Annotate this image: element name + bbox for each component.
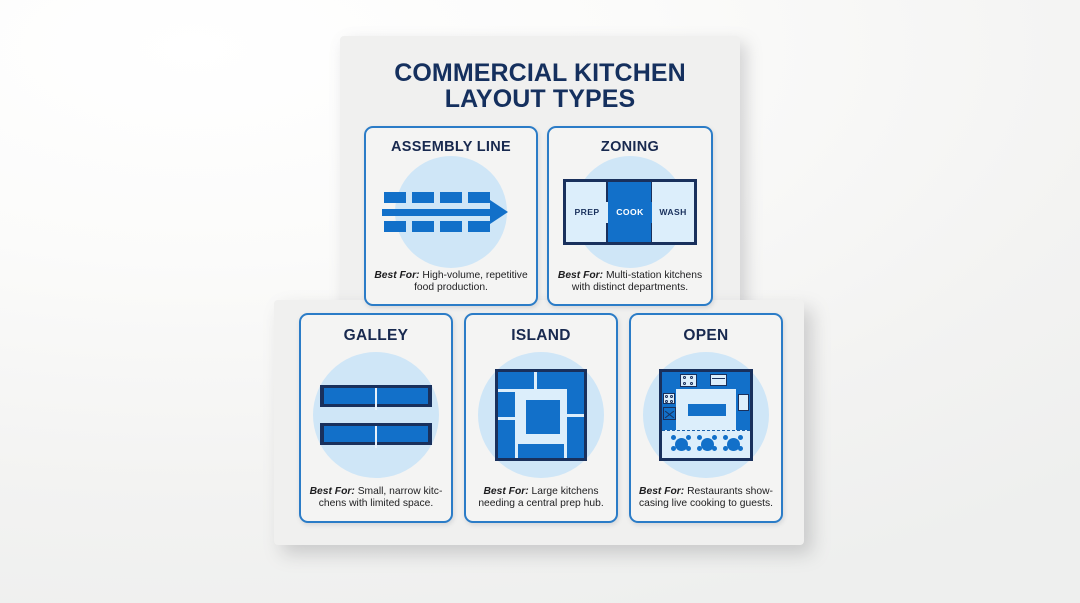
station-block [412, 192, 434, 203]
caption-assembly-line: Best For: High-volume, repetitive food p… [366, 270, 536, 295]
counter-segment [518, 444, 564, 458]
chair-dot [738, 446, 743, 451]
prep-dot [665, 400, 668, 403]
counter-segment [498, 392, 515, 417]
zone-wash: WASH [652, 182, 694, 242]
chair-dot [712, 446, 717, 451]
prep-dot [670, 400, 673, 403]
chair-dot [671, 446, 676, 451]
arrow-shaft [382, 209, 494, 216]
open-kitchen-icon [659, 369, 753, 461]
card-assembly-line[interactable]: ASSEMBLY LINE Best For: High-volume, rep… [364, 126, 538, 306]
zone-cook: COOK [608, 182, 652, 242]
zone-label-cook: COOK [616, 207, 643, 217]
card-title-open: OPEN [683, 327, 728, 345]
oven-rack [712, 376, 725, 379]
counter-bar [320, 423, 432, 445]
station-block [384, 221, 406, 232]
burner-dot [683, 382, 686, 385]
best-for-label: Best For: [558, 270, 603, 281]
zone-prep: PREP [566, 182, 608, 242]
station-block [440, 221, 462, 232]
zoning-icon: PREP COOK WASH [563, 179, 697, 245]
counter-segment [567, 372, 584, 414]
card-art-assembly-line [366, 155, 536, 270]
chair-dot [686, 435, 691, 440]
card-art-island [466, 345, 616, 486]
infographic-stage: COMMERCIAL KITCHEN LAYOUT TYPES ASSEMBLY… [0, 0, 1080, 603]
counter-bar [320, 385, 432, 407]
caption-text: High-volume, repetitive food production. [414, 270, 528, 294]
zone-label-wash: WASH [659, 207, 686, 217]
station-block [440, 192, 462, 203]
best-for-label: Best For: [310, 486, 355, 497]
chair-dot [738, 435, 743, 440]
burner-dot [683, 376, 686, 379]
arrow-head-icon [490, 200, 508, 224]
card-zoning[interactable]: ZONING PREP COOK WASH Best For: Multi-st… [547, 126, 713, 306]
burner-dot [690, 376, 693, 379]
card-title-zoning: ZONING [601, 139, 659, 155]
counter-segment [498, 372, 534, 389]
chair-dot [671, 435, 676, 440]
chair-dot [723, 446, 728, 451]
fridge-icon [738, 394, 749, 411]
page-title: COMMERCIAL KITCHEN LAYOUT TYPES [340, 60, 740, 112]
sink-icon [663, 407, 676, 420]
chair-dot [686, 446, 691, 451]
station-block [384, 192, 406, 203]
title-line-1: COMMERCIAL KITCHEN [394, 59, 686, 87]
best-for-label: Best For: [639, 486, 684, 497]
chair-dot [697, 435, 702, 440]
island-icon [495, 369, 587, 461]
best-for-label: Best For: [374, 270, 419, 281]
chair-dot [697, 446, 702, 451]
burner-dot [690, 382, 693, 385]
card-title-island: ISLAND [511, 327, 571, 345]
card-title-assembly-line: ASSEMBLY LINE [391, 139, 511, 155]
station-block [412, 221, 434, 232]
prep-dot [670, 395, 673, 398]
zone-label-prep: PREP [574, 207, 599, 217]
card-art-zoning: PREP COOK WASH [549, 155, 711, 270]
card-open[interactable]: OPEN [629, 313, 783, 523]
caption-zoning: Best For: Multi-station kitchens with di… [549, 270, 711, 295]
pass-counter [688, 404, 726, 416]
card-art-open [631, 345, 781, 486]
best-for-label: Best For: [483, 486, 528, 497]
counter-seam [375, 426, 377, 448]
counter-segment [567, 417, 584, 458]
caption-open: Best For: Restaurants show-casing live c… [631, 486, 781, 511]
chair-dot [723, 435, 728, 440]
station-block [468, 192, 490, 203]
card-galley[interactable]: GALLEY Best For: Small, narrow kitc-chen… [299, 313, 453, 523]
island-counter [526, 400, 560, 434]
assembly-line-icon [382, 188, 520, 236]
chair-dot [712, 435, 717, 440]
title-line-2: LAYOUT TYPES [340, 86, 740, 112]
caption-galley: Best For: Small, narrow kitc-chens with … [301, 486, 451, 511]
card-island[interactable]: ISLAND Best For: Large kitchens needing … [464, 313, 618, 523]
counter-segment [498, 420, 515, 458]
card-title-galley: GALLEY [344, 327, 409, 345]
prep-dot [665, 395, 668, 398]
card-art-galley [301, 345, 451, 486]
galley-icon [320, 385, 432, 445]
counter-seam [375, 388, 377, 410]
dining-divider [662, 430, 750, 431]
station-block [468, 221, 490, 232]
caption-island: Best For: Large kitchens needing a centr… [466, 486, 616, 511]
